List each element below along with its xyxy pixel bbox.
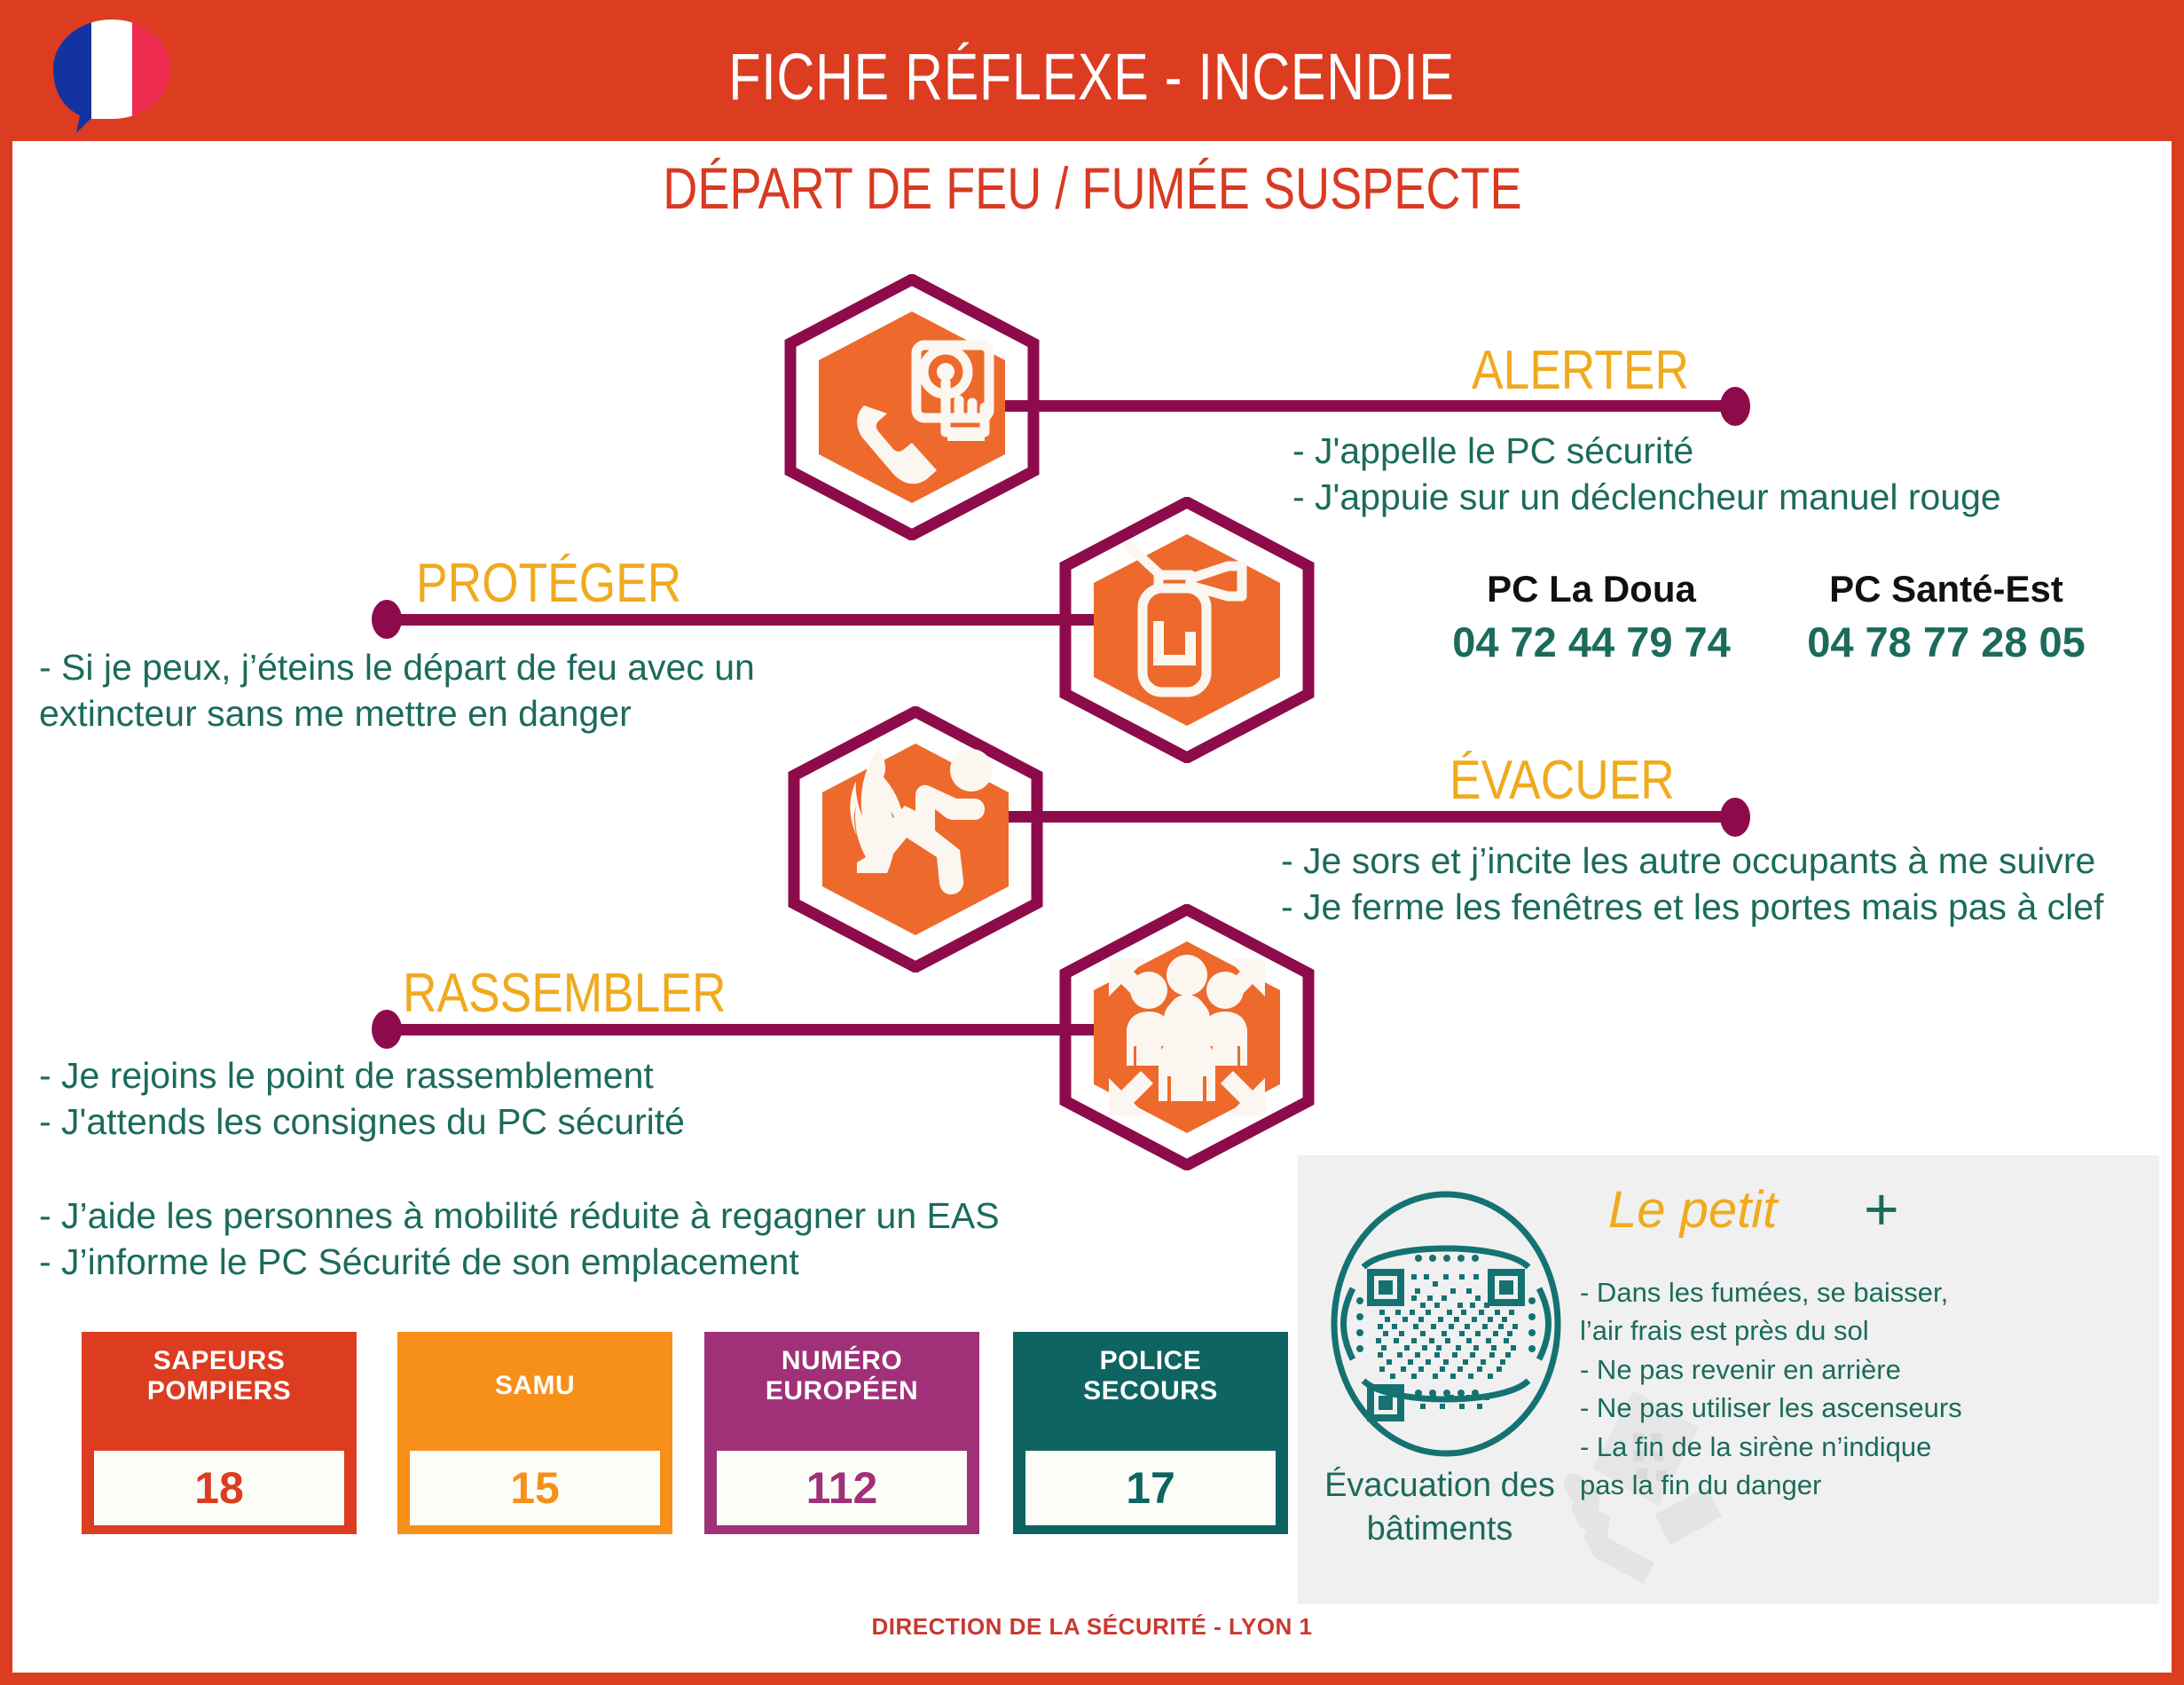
emergency-box-police-secours[interactable]: POLICE SECOURS 17 (1013, 1332, 1288, 1534)
step-body-rassembler: - Je rejoins le point de rassemblement -… (39, 1052, 685, 1146)
pc-contact-name: PC Santé-Est (1787, 568, 2106, 610)
connector-dot-rassembler (372, 1010, 402, 1049)
tip-line: - Dans les fumées, se baisser, (1580, 1273, 1962, 1311)
petit-plus-title: Le petit (1608, 1180, 1777, 1240)
fire-emergency-poster: FICHE RÉFLEXE - INCENDIE DÉPART DE FEU /… (0, 0, 2184, 1685)
qr-caption-line2: bâtiments (1307, 1508, 1573, 1551)
step-heading-rassembler-label: RASSEMBLER (403, 962, 726, 1025)
poster-header: FICHE RÉFLEXE - INCENDIE (12, 12, 2172, 141)
emergency-label-line1: POLICE (1083, 1346, 1218, 1376)
emergency-box-pompiers[interactable]: SAPEURS POMPIERS 18 (82, 1332, 357, 1534)
step-line: - J’aide les personnes à mobilité réduit… (39, 1193, 1000, 1239)
emergency-box-label: NUMÉRO EUROPÉEN (766, 1346, 918, 1405)
step-body-rassembler-extra: - J’aide les personnes à mobilité réduit… (39, 1193, 1000, 1286)
tip-line: l’air frais est près du sol (1580, 1311, 1962, 1350)
emergency-number-box: 17 (1025, 1451, 1276, 1525)
pc-contact-number[interactable]: 04 72 44 79 74 (1441, 618, 1742, 666)
petit-plus-sign: + (1864, 1175, 1899, 1244)
emergency-box-numero-europeen[interactable]: NUMÉRO EUROPÉEN 112 (704, 1332, 979, 1534)
poster-footer: DIRECTION DE LA SÉCURITÉ - LYON 1 (12, 1613, 2172, 1641)
connector-line-alerter (962, 400, 1733, 412)
emergency-box-label: SAMU (495, 1371, 575, 1401)
step-line: - Je sors et j’incite les autre occupant… (1281, 838, 2103, 884)
emergency-label-line1: NUMÉRO (766, 1346, 918, 1376)
connector-dot-evacuer (1720, 798, 1750, 837)
emergency-number: 18 (194, 1462, 244, 1514)
tip-line: - Ne pas revenir en arrière (1580, 1350, 1962, 1389)
tip-line: - La fin de la sirène n’indique (1580, 1428, 1962, 1466)
step-body-evacuer: - Je sors et j’incite les autre occupant… (1281, 838, 2103, 931)
qr-caption-line1: Évacuation des (1307, 1464, 1573, 1508)
step-heading-evacuer: ÉVACUER (1449, 749, 1711, 812)
qr-code-caption: Évacuation des bâtiments (1307, 1464, 1573, 1552)
running-person-fire-exit-icon (782, 706, 1049, 972)
emergency-number: 17 (1126, 1462, 1175, 1514)
step-body-alerter: - J'appelle le PC sécurité - J'appuie su… (1292, 428, 2001, 521)
pc-contact-name: PC La Doua (1441, 568, 1742, 610)
connector-dot-alerter (1720, 387, 1750, 426)
step-heading-alerter-label: ALERTER (1472, 339, 1689, 402)
emergency-number-box: 18 (94, 1451, 344, 1525)
step-line: - J'appelle le PC sécurité (1292, 428, 2001, 474)
connector-line-rassembler (385, 1024, 1121, 1035)
emergency-label-line2: EUROPÉEN (766, 1376, 918, 1406)
emergency-number: 112 (806, 1462, 878, 1514)
step-heading-alerter: ALERTER (1472, 339, 1724, 402)
step-heading-rassembler: RASSEMBLER (403, 962, 779, 1025)
step-line: - J'attends les consignes du PC sécurité (39, 1098, 685, 1145)
petit-plus-tips: - Dans les fumées, se baisser, l’air fra… (1580, 1273, 1962, 1504)
assembly-point-people-icon (1054, 904, 1320, 1170)
step-body-proteger: - Si je peux, j’éteins le départ de feu … (39, 644, 755, 737)
pc-contact-la-doua: PC La Doua 04 72 44 79 74 (1441, 568, 1742, 666)
poster-subtitle-text: DÉPART DE FEU / FUMÉE SUSPECTE (663, 154, 1521, 222)
emergency-number: 15 (510, 1462, 560, 1514)
connector-line-proteger (385, 614, 1121, 626)
emergency-box-samu[interactable]: SAMU 15 (397, 1332, 672, 1534)
pc-contact-number[interactable]: 04 78 77 28 05 (1787, 618, 2106, 666)
emergency-label-line2: POMPIERS (147, 1376, 291, 1406)
step-line: extincteur sans me mettre en danger (39, 690, 755, 736)
emergency-number-box: 112 (717, 1451, 967, 1525)
emergency-label-line1: SAPEURS (147, 1346, 291, 1376)
connector-dot-proteger (372, 600, 402, 639)
petit-plus-panel: Le petit + (1298, 1155, 2159, 1604)
tip-line: - Ne pas utiliser les ascenseurs (1580, 1389, 1962, 1427)
step-line: - J'appuie sur un déclencheur manuel rou… (1292, 474, 2001, 520)
emergency-label-line2: SECOURS (1083, 1376, 1218, 1406)
step-heading-proteger: PROTÉGER (416, 552, 725, 615)
french-flag-speech-bubble-icon (50, 18, 174, 135)
connector-line-evacuer (962, 811, 1733, 823)
tip-line: pas la fin du danger (1580, 1466, 1962, 1504)
step-heading-evacuer-label: ÉVACUER (1449, 749, 1675, 812)
pc-contact-sante-est: PC Santé-Est 04 78 77 28 05 (1787, 568, 2106, 666)
qr-code-oval-icon[interactable] (1326, 1191, 1566, 1457)
page-title: FICHE RÉFLEXE - INCENDIE (729, 39, 1456, 114)
poster-subtitle: DÉPART DE FEU / FUMÉE SUSPECTE (12, 154, 2172, 222)
step-line: - Si je peux, j’éteins le départ de feu … (39, 644, 755, 690)
fire-extinguisher-icon (1054, 497, 1320, 763)
step-line: - Je rejoins le point de rassemblement (39, 1052, 685, 1098)
step-line: - J’informe le PC Sécurité de son emplac… (39, 1239, 1000, 1285)
step-heading-proteger-label: PROTÉGER (416, 552, 681, 615)
emergency-number-box: 15 (410, 1451, 660, 1525)
emergency-label-line1: SAMU (495, 1371, 575, 1401)
emergency-box-label: POLICE SECOURS (1083, 1346, 1218, 1405)
emergency-box-label: SAPEURS POMPIERS (147, 1346, 291, 1405)
phone-alarm-call-point-icon (779, 274, 1045, 540)
step-line: - Je ferme les fenêtres et les portes ma… (1281, 884, 2103, 930)
